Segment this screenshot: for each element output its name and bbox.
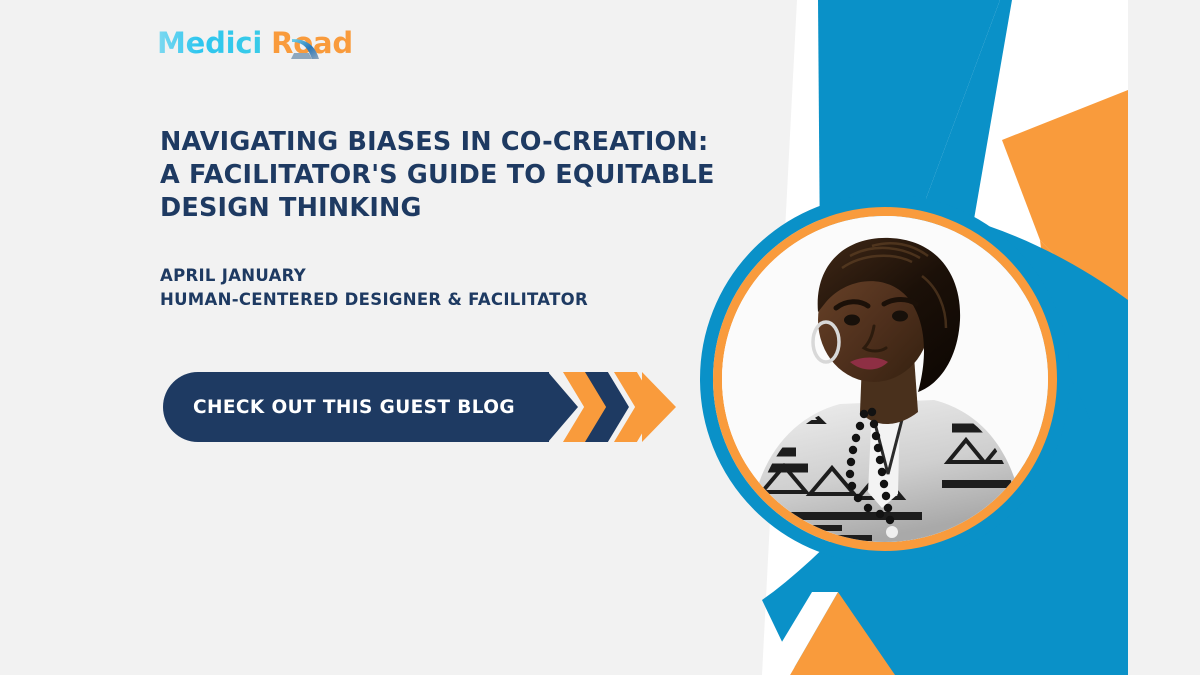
headline-line-3: DESIGN THINKING — [160, 192, 750, 225]
brand-logo[interactable]: Medici Road — [157, 26, 353, 60]
promo-banner: Medici Road NAVIGATING BIASES IN CO-CREA… — [0, 0, 1200, 675]
author-portrait — [700, 194, 1070, 564]
headline-line-1: NAVIGATING BIASES IN CO-CREATION: — [160, 126, 750, 159]
logo-word-road-text: Road — [271, 26, 353, 60]
logo-word-medici: Medici — [157, 26, 262, 60]
orange-lower-wedge — [790, 592, 895, 675]
logo-word-road: Road — [271, 26, 353, 60]
author-role: HUMAN-CENTERED DESIGNER & FACILITATOR — [160, 288, 588, 312]
author-name: APRIL JANUARY — [160, 264, 588, 288]
check-out-guest-blog-button[interactable]: CHECK OUT THIS GUEST BLOG — [163, 372, 549, 442]
portrait-photo — [722, 216, 1048, 542]
chevron-right-icon-tail — [642, 372, 676, 442]
cta-group[interactable]: CHECK OUT THIS GUEST BLOG — [163, 372, 676, 442]
white-lower-sliver — [762, 592, 838, 675]
headline-line-2: A FACILITATOR'S GUIDE TO EQUITABLE — [160, 159, 750, 192]
page-title: NAVIGATING BIASES IN CO-CREATION: A FACI… — [160, 126, 750, 225]
cta-label: CHECK OUT THIS GUEST BLOG — [193, 397, 515, 418]
author-byline: APRIL JANUARY HUMAN-CENTERED DESIGNER & … — [160, 264, 588, 312]
